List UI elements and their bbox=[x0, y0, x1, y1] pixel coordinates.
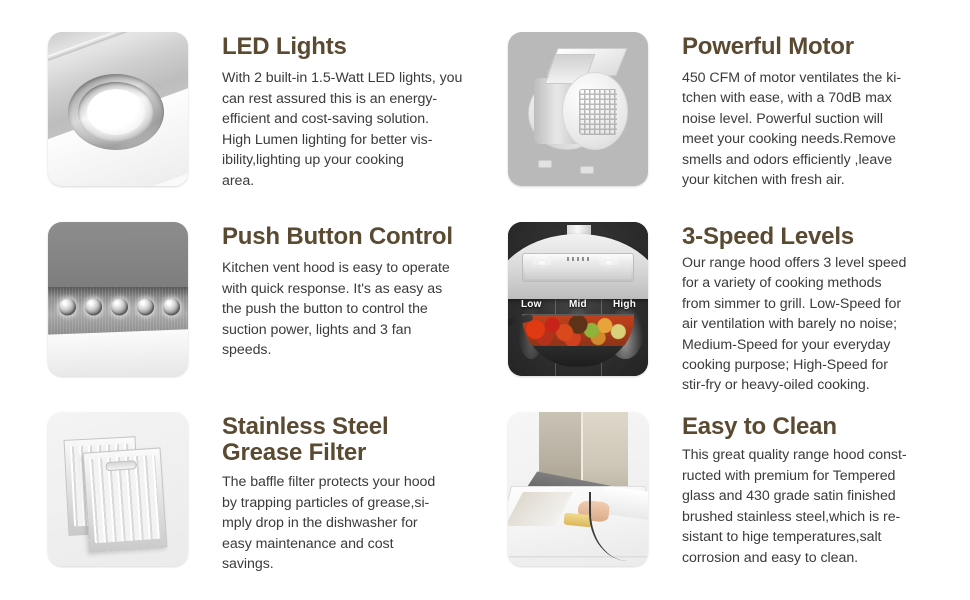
feature-body: Kitchen vent hood is easy to operate wit… bbox=[222, 258, 503, 361]
feature-body: Our range hood offers 3 level speed for … bbox=[682, 253, 963, 396]
led-lens bbox=[87, 89, 145, 135]
feature-body: With 2 built-in 1.5-Watt LED lights, you… bbox=[222, 68, 503, 192]
push-button bbox=[137, 298, 154, 315]
push-button-panel-photo bbox=[48, 222, 188, 376]
speed-label-low: Low bbox=[508, 299, 555, 310]
feature-card-push-button-control: Push Button Control Kitchen vent hood is… bbox=[48, 222, 503, 412]
motor-face-plate bbox=[562, 72, 628, 150]
blower-motor-photo bbox=[508, 32, 648, 186]
baffle-filter-front bbox=[83, 447, 168, 552]
motor-vent-grille bbox=[579, 89, 617, 135]
motor-mount-foot bbox=[580, 166, 594, 174]
stir-fry-food bbox=[522, 316, 634, 345]
hood-underside bbox=[48, 329, 188, 376]
feature-text-easy-to-clean: Easy to Clean This great quality range h… bbox=[648, 412, 963, 569]
feature-text-led-lights: LED Lights With 2 built-in 1.5-Watt LED … bbox=[188, 32, 503, 192]
feature-card-three-speed-levels: Low Mid High 3-Speed Levels Our range ho… bbox=[508, 222, 963, 412]
led-bezel-inner bbox=[78, 82, 154, 142]
push-button bbox=[59, 298, 76, 315]
hood-control-dots bbox=[567, 257, 591, 261]
feature-text-three-speed-levels: 3-Speed Levels Our range hood offers 3 l… bbox=[648, 222, 963, 396]
push-button bbox=[111, 298, 128, 315]
speed-label-mid: Mid bbox=[555, 299, 602, 310]
feature-body: This great quality range hood const- ruc… bbox=[682, 445, 963, 569]
led-bezel-outer bbox=[68, 74, 164, 150]
feature-card-stainless-steel-grease-filter: Stainless Steel Grease Filter The baffle… bbox=[48, 412, 503, 600]
feature-text-stainless-steel-grease-filter: Stainless Steel Grease Filter The baffle… bbox=[188, 412, 503, 575]
feature-title: Powerful Motor bbox=[682, 34, 963, 60]
feature-body: 450 CFM of motor ventilates the ki- tche… bbox=[682, 68, 963, 190]
feature-card-easy-to-clean: Easy to Clean This great quality range h… bbox=[508, 412, 963, 600]
led-light-photo bbox=[48, 32, 188, 186]
feature-title: Easy to Clean bbox=[682, 414, 963, 440]
feature-title: Push Button Control bbox=[222, 224, 503, 250]
feature-title: Stainless Steel Grease Filter bbox=[222, 414, 503, 466]
feature-title: LED Lights bbox=[222, 34, 503, 60]
feature-body: The baffle filter protects your hood by … bbox=[222, 472, 503, 575]
hood-upper-surface bbox=[48, 222, 188, 290]
feature-text-powerful-motor: Powerful Motor 450 CFM of motor ventilat… bbox=[648, 32, 963, 190]
easy-clean-photo bbox=[508, 412, 648, 566]
speed-label-high: High bbox=[601, 299, 648, 310]
motor-mount-foot bbox=[538, 160, 552, 168]
feature-text-push-button-control: Push Button Control Kitchen vent hood is… bbox=[188, 222, 503, 361]
push-button bbox=[85, 298, 102, 315]
feature-grid: LED Lights With 2 built-in 1.5-Watt LED … bbox=[0, 0, 970, 600]
push-button bbox=[163, 298, 180, 315]
baffle-filter-photo bbox=[48, 412, 188, 566]
feature-card-led-lights: LED Lights With 2 built-in 1.5-Watt LED … bbox=[48, 32, 503, 222]
three-speed-demo-photo: Low Mid High bbox=[508, 222, 648, 376]
hood-glass-visor bbox=[525, 265, 631, 279]
sponge bbox=[563, 512, 592, 527]
feature-title: 3-Speed Levels bbox=[682, 224, 963, 250]
feature-card-powerful-motor: Powerful Motor 450 CFM of motor ventilat… bbox=[508, 32, 963, 222]
